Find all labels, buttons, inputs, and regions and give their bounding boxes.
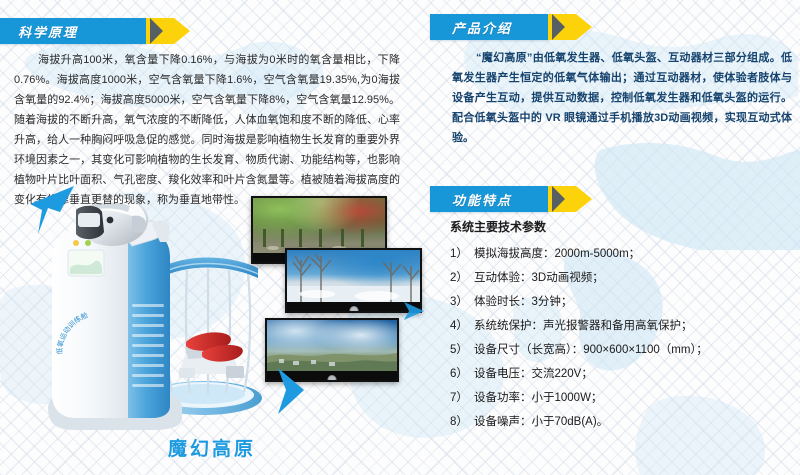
spec-list-title: 系统主要技术参数 — [450, 218, 795, 235]
spec-item-text: 互动体验：3D动画视频； — [474, 266, 795, 290]
section-banner-science-label: 科学原理 — [18, 22, 78, 41]
banner-gray-chevron — [552, 14, 565, 40]
spec-list: 1）模拟海拔高度：2000m-5000m；2）互动体验：3D动画视频；3）体验时… — [450, 242, 795, 434]
banner-bar: 功能特点 — [430, 186, 548, 212]
plateau-sky-scene-image — [267, 320, 397, 371]
spec-item-text: 设备噪声：小于70dB(A)。 — [474, 410, 795, 434]
spec-item: 3）体验时长：3分钟； — [450, 290, 795, 314]
cabinet-vent-slats — [132, 304, 164, 387]
banner-bar: 科学原理 — [0, 18, 146, 44]
spec-item-text: 系统统保护：声光报警器和备用高氧保护； — [474, 314, 795, 338]
spec-item-number: 6） — [450, 362, 474, 386]
spec-item-text: 设备功率：小于1000W； — [474, 386, 795, 410]
spec-item: 6）设备电压：交流220V； — [450, 362, 795, 386]
section-banner-science: 科学原理 — [0, 18, 146, 44]
spec-item-text: 设备电压：交流220V； — [474, 362, 795, 386]
banner-gray-chevron — [552, 186, 565, 212]
decor-arrow-right — [402, 300, 428, 327]
banner-bar: 产品介绍 — [430, 14, 548, 40]
spec-item-text: 体验时长：3分钟； — [474, 290, 795, 314]
spec-item-text: 模拟海拔高度：2000m-5000m； — [474, 242, 795, 266]
spec-item: 1）模拟海拔高度：2000m-5000m； — [450, 242, 795, 266]
decor-arrow-upper-left — [22, 184, 80, 241]
spec-item: 7）设备功率：小于1000W； — [450, 386, 795, 410]
spec-item: 5）设备尺寸（长宽高）：900×600×1100（mm）； — [450, 338, 795, 362]
spec-item: 8）设备噪声：小于70dB(A)。 — [450, 410, 795, 434]
spec-item-number: 5） — [450, 338, 474, 362]
banner-gray-chevron — [150, 18, 163, 44]
spec-item: 2）互动体验：3D动画视频； — [450, 266, 795, 290]
poster-canvas: 科学原理 海拔升高100米，氧含量下降0.16%，与海拔为0米时的氧含量相比，下… — [0, 0, 800, 475]
spec-item-number: 2） — [450, 266, 474, 290]
spec-item-text: 设备尺寸（长宽高）：900×600×1100（mm）； — [474, 338, 795, 362]
spec-item-number: 7） — [450, 386, 474, 410]
spec-item-number: 8） — [450, 410, 474, 434]
cabinet-blue-panel — [128, 226, 170, 418]
spec-item-number: 3） — [450, 290, 474, 314]
decor-arrow-lower-middle — [274, 366, 308, 423]
spec-item: 4）系统统保护：声光报警器和备用高氧保护； — [450, 314, 795, 338]
section-banner-features: 功能特点 — [430, 186, 548, 212]
section-banner-product: 产品介绍 — [430, 14, 548, 40]
stepper-machine — [178, 332, 244, 378]
thumbnail-stand — [349, 306, 358, 313]
technical-spec-block: 系统主要技术参数 1）模拟海拔高度：2000m-5000m；2）互动体验：3D动… — [450, 218, 795, 434]
spec-item-number: 4） — [450, 314, 474, 338]
spec-item-number: 1） — [450, 242, 474, 266]
product-title: 魔幻高原 — [168, 434, 256, 461]
thumbnail-stand — [328, 375, 337, 382]
product-introduction-paragraph: “魔幻高原”由低氧发生器、低氧头盔、互动器材三部分组成。低氧发生器产生恒定的低氧… — [452, 48, 792, 148]
winter-forest-scene-image — [287, 250, 420, 302]
section-banner-product-label: 产品介绍 — [452, 18, 512, 37]
section-banner-features-label: 功能特点 — [452, 190, 512, 209]
helmet-sensor — [107, 217, 114, 224]
